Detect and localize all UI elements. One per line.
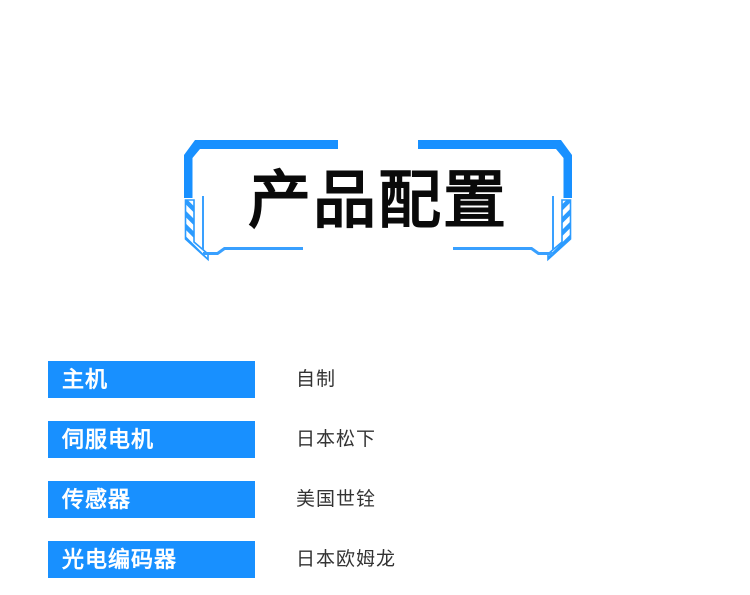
page-title: 产品配置 <box>183 138 573 263</box>
spec-value-text: 美国世铨 <box>296 481 376 518</box>
spec-label-badge: 主机 <box>48 361 255 398</box>
spec-list: 主机 自制 伺服电机 日本松下 传感器 美国世铨 光电编码器 日本欧姆龙 <box>0 355 750 595</box>
spec-label-badge: 传感器 <box>48 481 255 518</box>
spec-label-badge: 光电编码器 <box>48 541 255 578</box>
spec-value-text: 日本欧姆龙 <box>296 541 396 578</box>
spec-label-badge: 伺服电机 <box>48 421 255 458</box>
title-banner: 产品配置 <box>0 0 750 300</box>
spec-row: 传感器 美国世铨 <box>0 475 750 535</box>
spec-row: 光电编码器 日本欧姆龙 <box>0 535 750 595</box>
spec-row: 主机 自制 <box>0 355 750 415</box>
spec-value-text: 日本松下 <box>296 421 376 458</box>
spec-row: 伺服电机 日本松下 <box>0 415 750 475</box>
spec-value-text: 自制 <box>296 361 336 398</box>
